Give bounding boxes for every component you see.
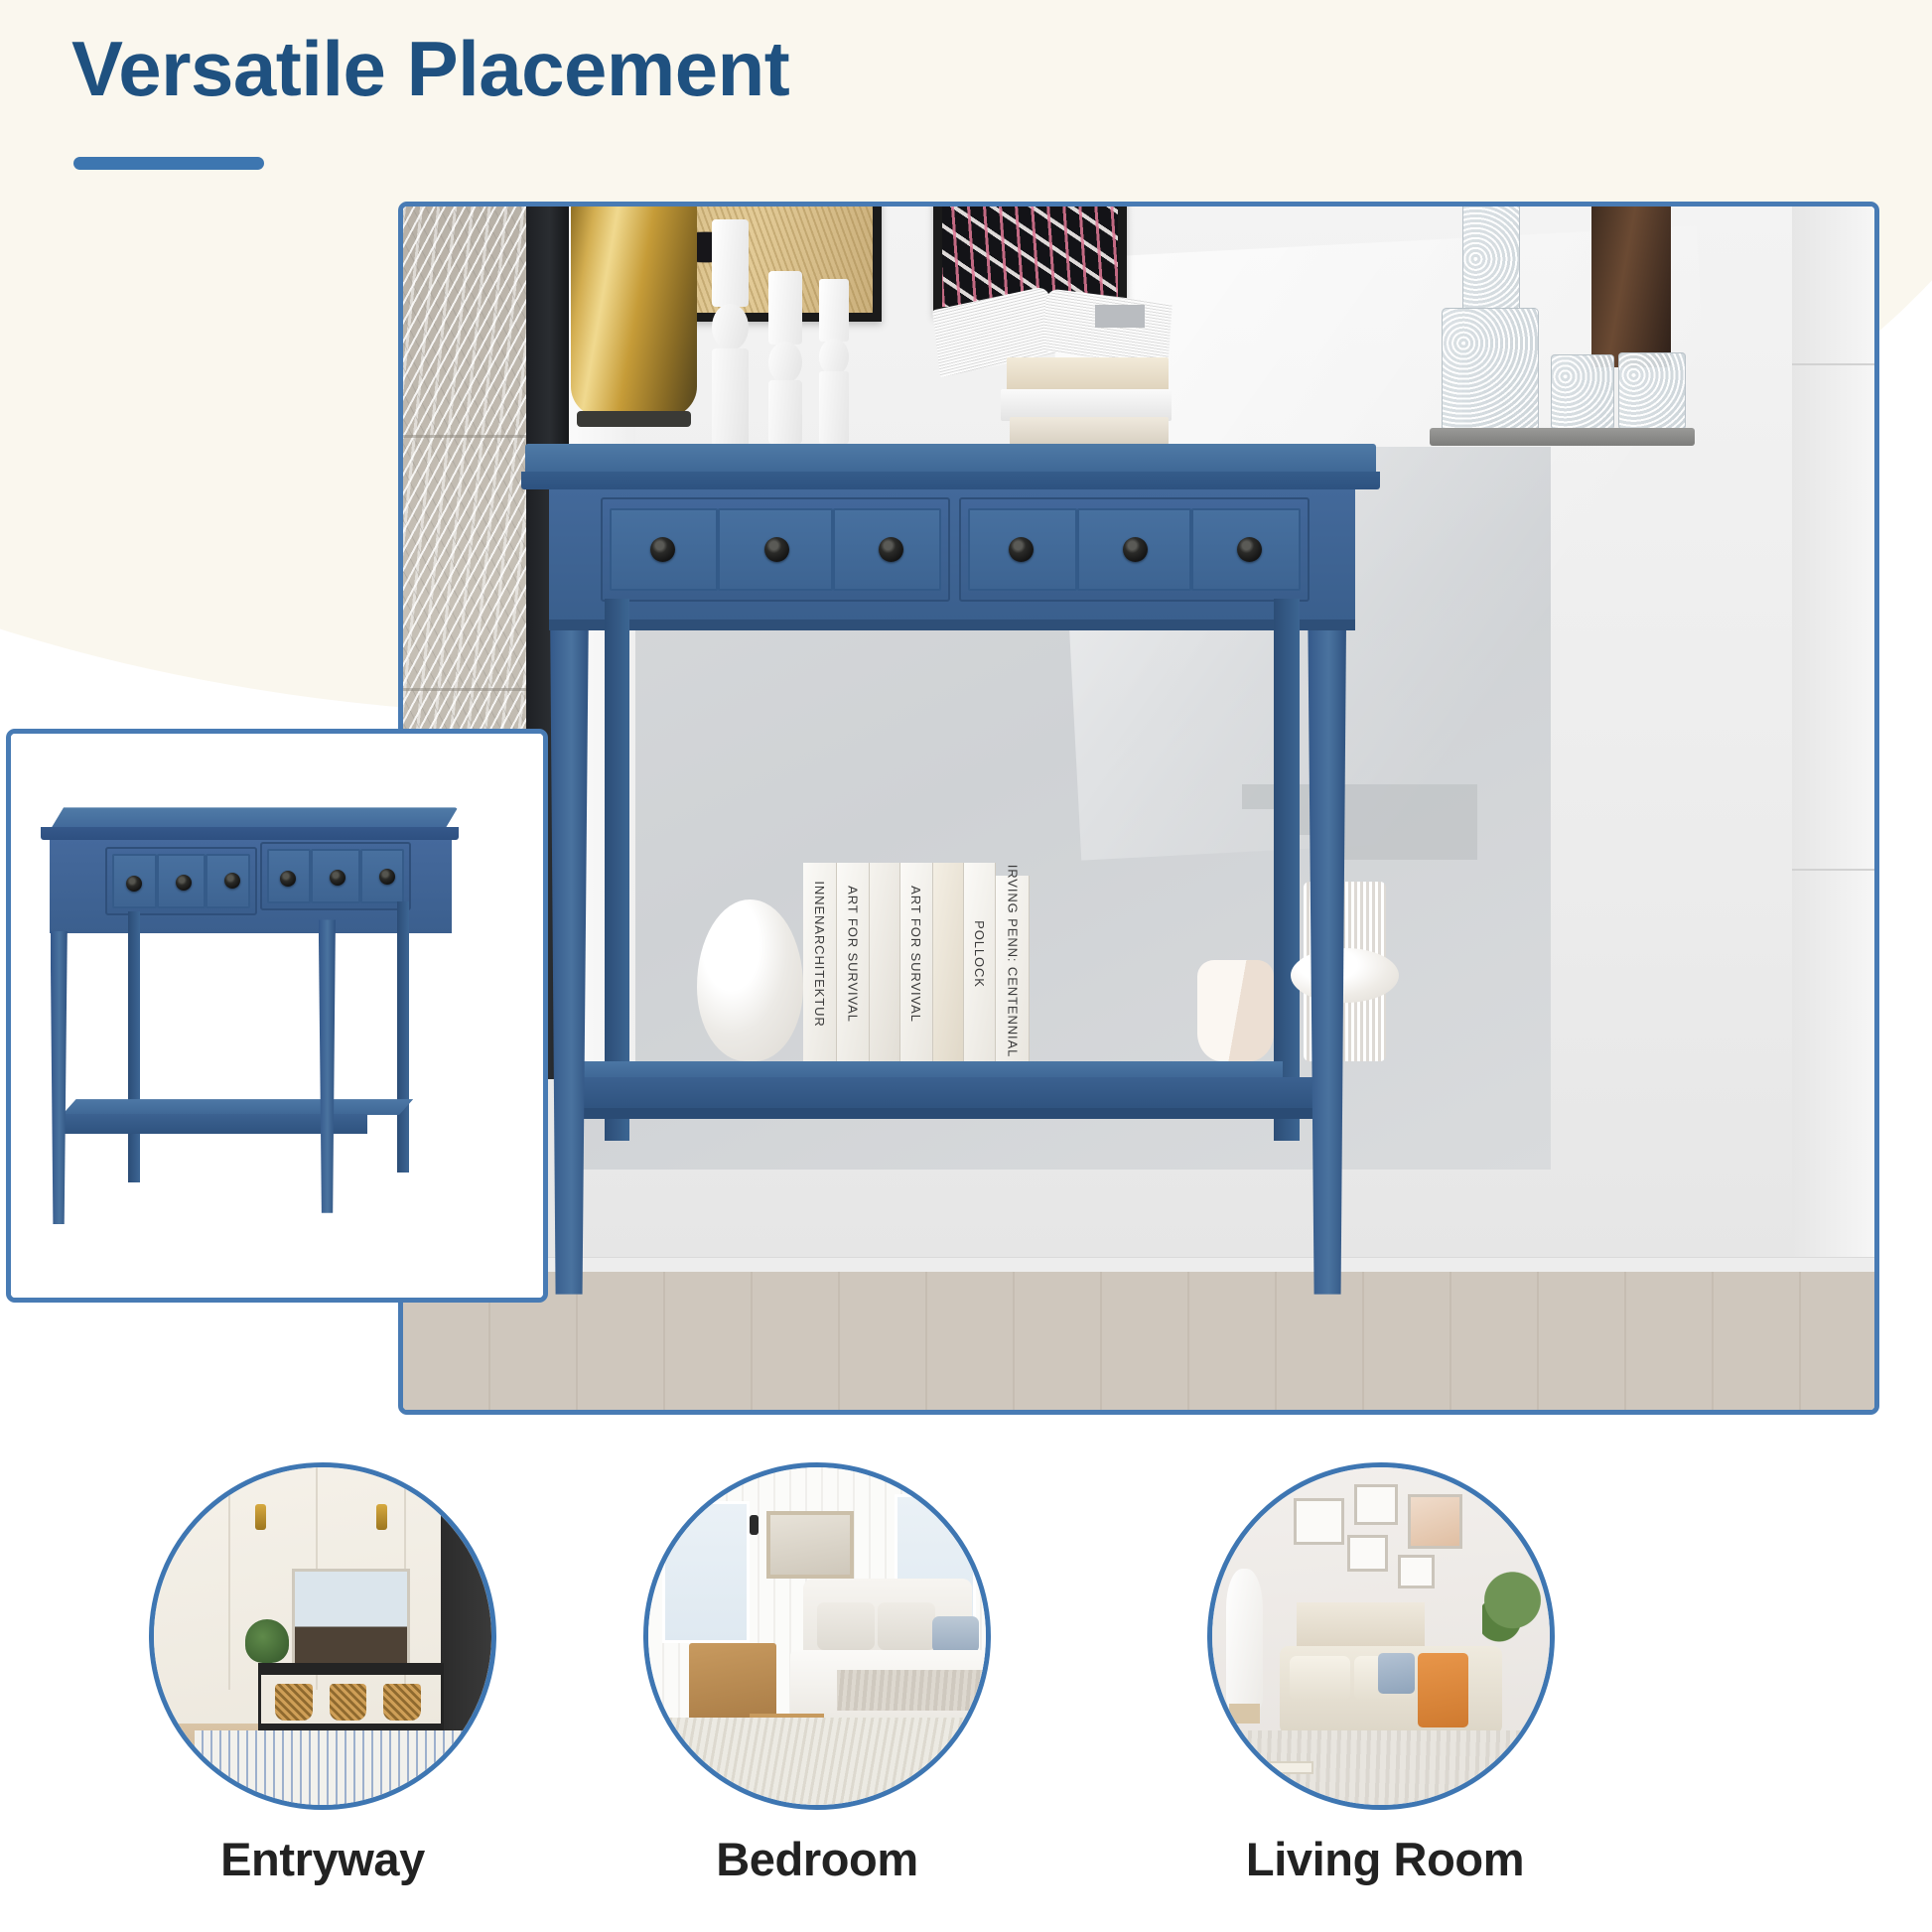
entryway-woven-basket-3 [383, 1684, 420, 1721]
stone-panel-seam-2 [403, 688, 526, 691]
inset-drawer-knob-6[interactable] [379, 869, 395, 885]
hero-shadow-step-3 [1330, 835, 1477, 860]
console-table-lower-shelf [583, 1061, 1283, 1079]
white-stacked-candle-holder-c-base [819, 371, 849, 444]
entryway-glass-door [441, 1467, 491, 1737]
inset-drawer-group-left[interactable] [105, 847, 256, 915]
living-room-lamp-base [1229, 1704, 1260, 1724]
right-cabinetry [1792, 207, 1874, 1410]
stacked-book-2 [1001, 389, 1172, 421]
inset-product-photo [6, 729, 548, 1303]
bedroom-woven-rug [648, 1718, 986, 1805]
open-book-photo [1095, 305, 1145, 328]
gold-vase-base [577, 411, 692, 427]
bedroom-framed-artwork [766, 1511, 854, 1579]
bedroom-wall-sconce [750, 1515, 759, 1535]
entryway-landscape-artwork [292, 1569, 410, 1670]
drawer-group-left[interactable] [601, 497, 951, 601]
hero-floor [403, 1272, 1874, 1410]
small-two-tone-vase [1197, 960, 1274, 1061]
brown-cylinder-vessel [1591, 207, 1671, 367]
console-table-leg-front-right [1308, 630, 1346, 1295]
console-table-leg-back-right [1274, 599, 1299, 1140]
hero-baseboard [403, 1257, 1874, 1272]
book-spine-5-label: IRVING PENN: CENTENNIAL [1005, 864, 1020, 1057]
book-spine-3: ART FOR SURVIVAL [900, 863, 933, 1061]
entryway-wall-panel-line-1 [228, 1467, 230, 1690]
entryway-woven-basket-1 [275, 1684, 312, 1721]
console-table-lower-shelf-face [559, 1077, 1318, 1109]
textured-glass-tumbler-1 [1551, 354, 1614, 432]
title-underline-rule [73, 157, 264, 170]
entryway-wall-sconce-right [376, 1504, 387, 1530]
console-table-top [525, 444, 1376, 472]
living-room-gallery-art-3 [1408, 1494, 1461, 1548]
drawer-knob-1[interactable] [650, 537, 675, 562]
entryway-wall-sconce-left [255, 1504, 266, 1530]
hero-product-photo: INNENARCHITEKTUR ART FOR SURVIVAL ART FO… [398, 202, 1879, 1415]
white-stacked-candle-holder-c-sphere [819, 339, 849, 374]
entryway-caption: Entryway [139, 1832, 506, 1886]
book-spine-blank-1 [870, 863, 900, 1061]
gold-vase [571, 207, 697, 418]
entryway-blue-patterned-rug [195, 1730, 496, 1810]
inset-lower-shelf [62, 1099, 413, 1115]
book-spine-4-label: POLLOCK [972, 920, 987, 988]
cabinetry-seam-2 [1792, 869, 1874, 871]
hero-scene: INNENARCHITEKTUR ART FOR SURVIVAL ART FO… [403, 207, 1874, 1410]
bedroom-window-left [662, 1501, 750, 1643]
living-room-orange-throw [1418, 1653, 1468, 1727]
white-stacked-candle-holder-b-sphere [768, 342, 802, 383]
living-room-coffee-table-book [1266, 1761, 1313, 1775]
white-round-ceramic-vase [697, 899, 803, 1060]
stacked-book-3 [1010, 417, 1169, 445]
bedroom-pillow-2 [878, 1602, 935, 1650]
fluted-white-vase-belly [1291, 948, 1400, 1004]
white-stacked-candle-holder-a-top [712, 219, 749, 306]
page-title: Versatile Placement [71, 27, 1164, 110]
living-room-area-rug [1212, 1730, 1550, 1805]
white-stacked-candle-holder-b-base [768, 380, 802, 444]
inset-leg-back-left [128, 911, 140, 1182]
stone-panel-seam-1 [403, 435, 526, 438]
book-spine-3-label: ART FOR SURVIVAL [908, 886, 923, 1023]
book-spine-2: ART FOR SURVIVAL [837, 863, 870, 1061]
white-stacked-candle-holder-b-top [768, 271, 802, 345]
inset-lower-shelf-face [54, 1114, 367, 1134]
entryway-scene-thumbnail[interactable] [149, 1462, 496, 1810]
book-spine-2-label: ART FOR SURVIVAL [845, 886, 860, 1023]
living-room-blue-pillow [1378, 1653, 1415, 1694]
console-table-lower-shelf-edge [559, 1108, 1318, 1119]
bedroom-blue-pillow [932, 1616, 980, 1653]
drawer-knob-2[interactable] [764, 537, 789, 562]
drawer-group-right[interactable] [959, 497, 1310, 601]
living-room-caption: Living Room [1137, 1832, 1633, 1886]
book-spine-1-label: INNENARCHITEKTUR [812, 881, 827, 1027]
console-table-top-edge [521, 472, 1380, 489]
book-spine-5: IRVING PENN: CENTENNIAL [996, 876, 1030, 1061]
bedroom-scene-thumbnail[interactable] [643, 1462, 991, 1810]
entryway-fern-plant [245, 1619, 289, 1663]
console-table-apron-bottom [549, 620, 1355, 630]
bedroom-pillow-1 [817, 1602, 875, 1650]
inset-drawer-group-right[interactable] [260, 842, 411, 910]
stacked-book-1 [1007, 357, 1169, 392]
inset-leg-back-right [397, 901, 409, 1173]
textured-glass-carafe-body [1442, 308, 1539, 433]
book-spine-blank-2 [933, 863, 964, 1061]
inset-table-top-edge [41, 827, 459, 841]
living-room-gallery-art-4 [1347, 1535, 1388, 1572]
console-table-leg-back-left [605, 599, 629, 1140]
inset-leg-front-left [51, 931, 68, 1224]
living-room-cushion-1 [1290, 1656, 1350, 1700]
inset-table-top [52, 807, 459, 827]
living-room-scene-thumbnail[interactable] [1207, 1462, 1555, 1810]
living-room-gallery-art-2 [1354, 1484, 1398, 1525]
bedroom-wood-nightstand [689, 1643, 776, 1725]
living-room-gallery-art-1 [1294, 1498, 1344, 1546]
entryway-woven-basket-2 [330, 1684, 366, 1721]
inset-scene [11, 734, 543, 1298]
inset-leg-front-right [319, 919, 336, 1212]
bedroom-caption: Bedroom [633, 1832, 1001, 1886]
book-spine-1: INNENARCHITEKTUR [803, 863, 837, 1061]
living-room-gallery-art-5 [1398, 1555, 1435, 1588]
textured-glass-tumbler-2 [1618, 352, 1686, 432]
white-stacked-candle-holder-c-top [819, 279, 849, 342]
white-stacked-candle-holder-a-base [712, 348, 749, 447]
living-room-console-shelf [1297, 1602, 1425, 1650]
book-spine-4: POLLOCK [964, 863, 997, 1061]
bedroom-knit-throw [837, 1670, 986, 1711]
inset-drawer-knob-1[interactable] [126, 876, 142, 892]
console-table-leg-front-left [550, 630, 589, 1295]
living-room-sculptural-floor-lamp [1226, 1569, 1263, 1711]
cabinetry-seam-1 [1792, 363, 1874, 365]
metal-tray [1430, 428, 1695, 446]
inset-drawer-knob-2[interactable] [176, 875, 192, 891]
